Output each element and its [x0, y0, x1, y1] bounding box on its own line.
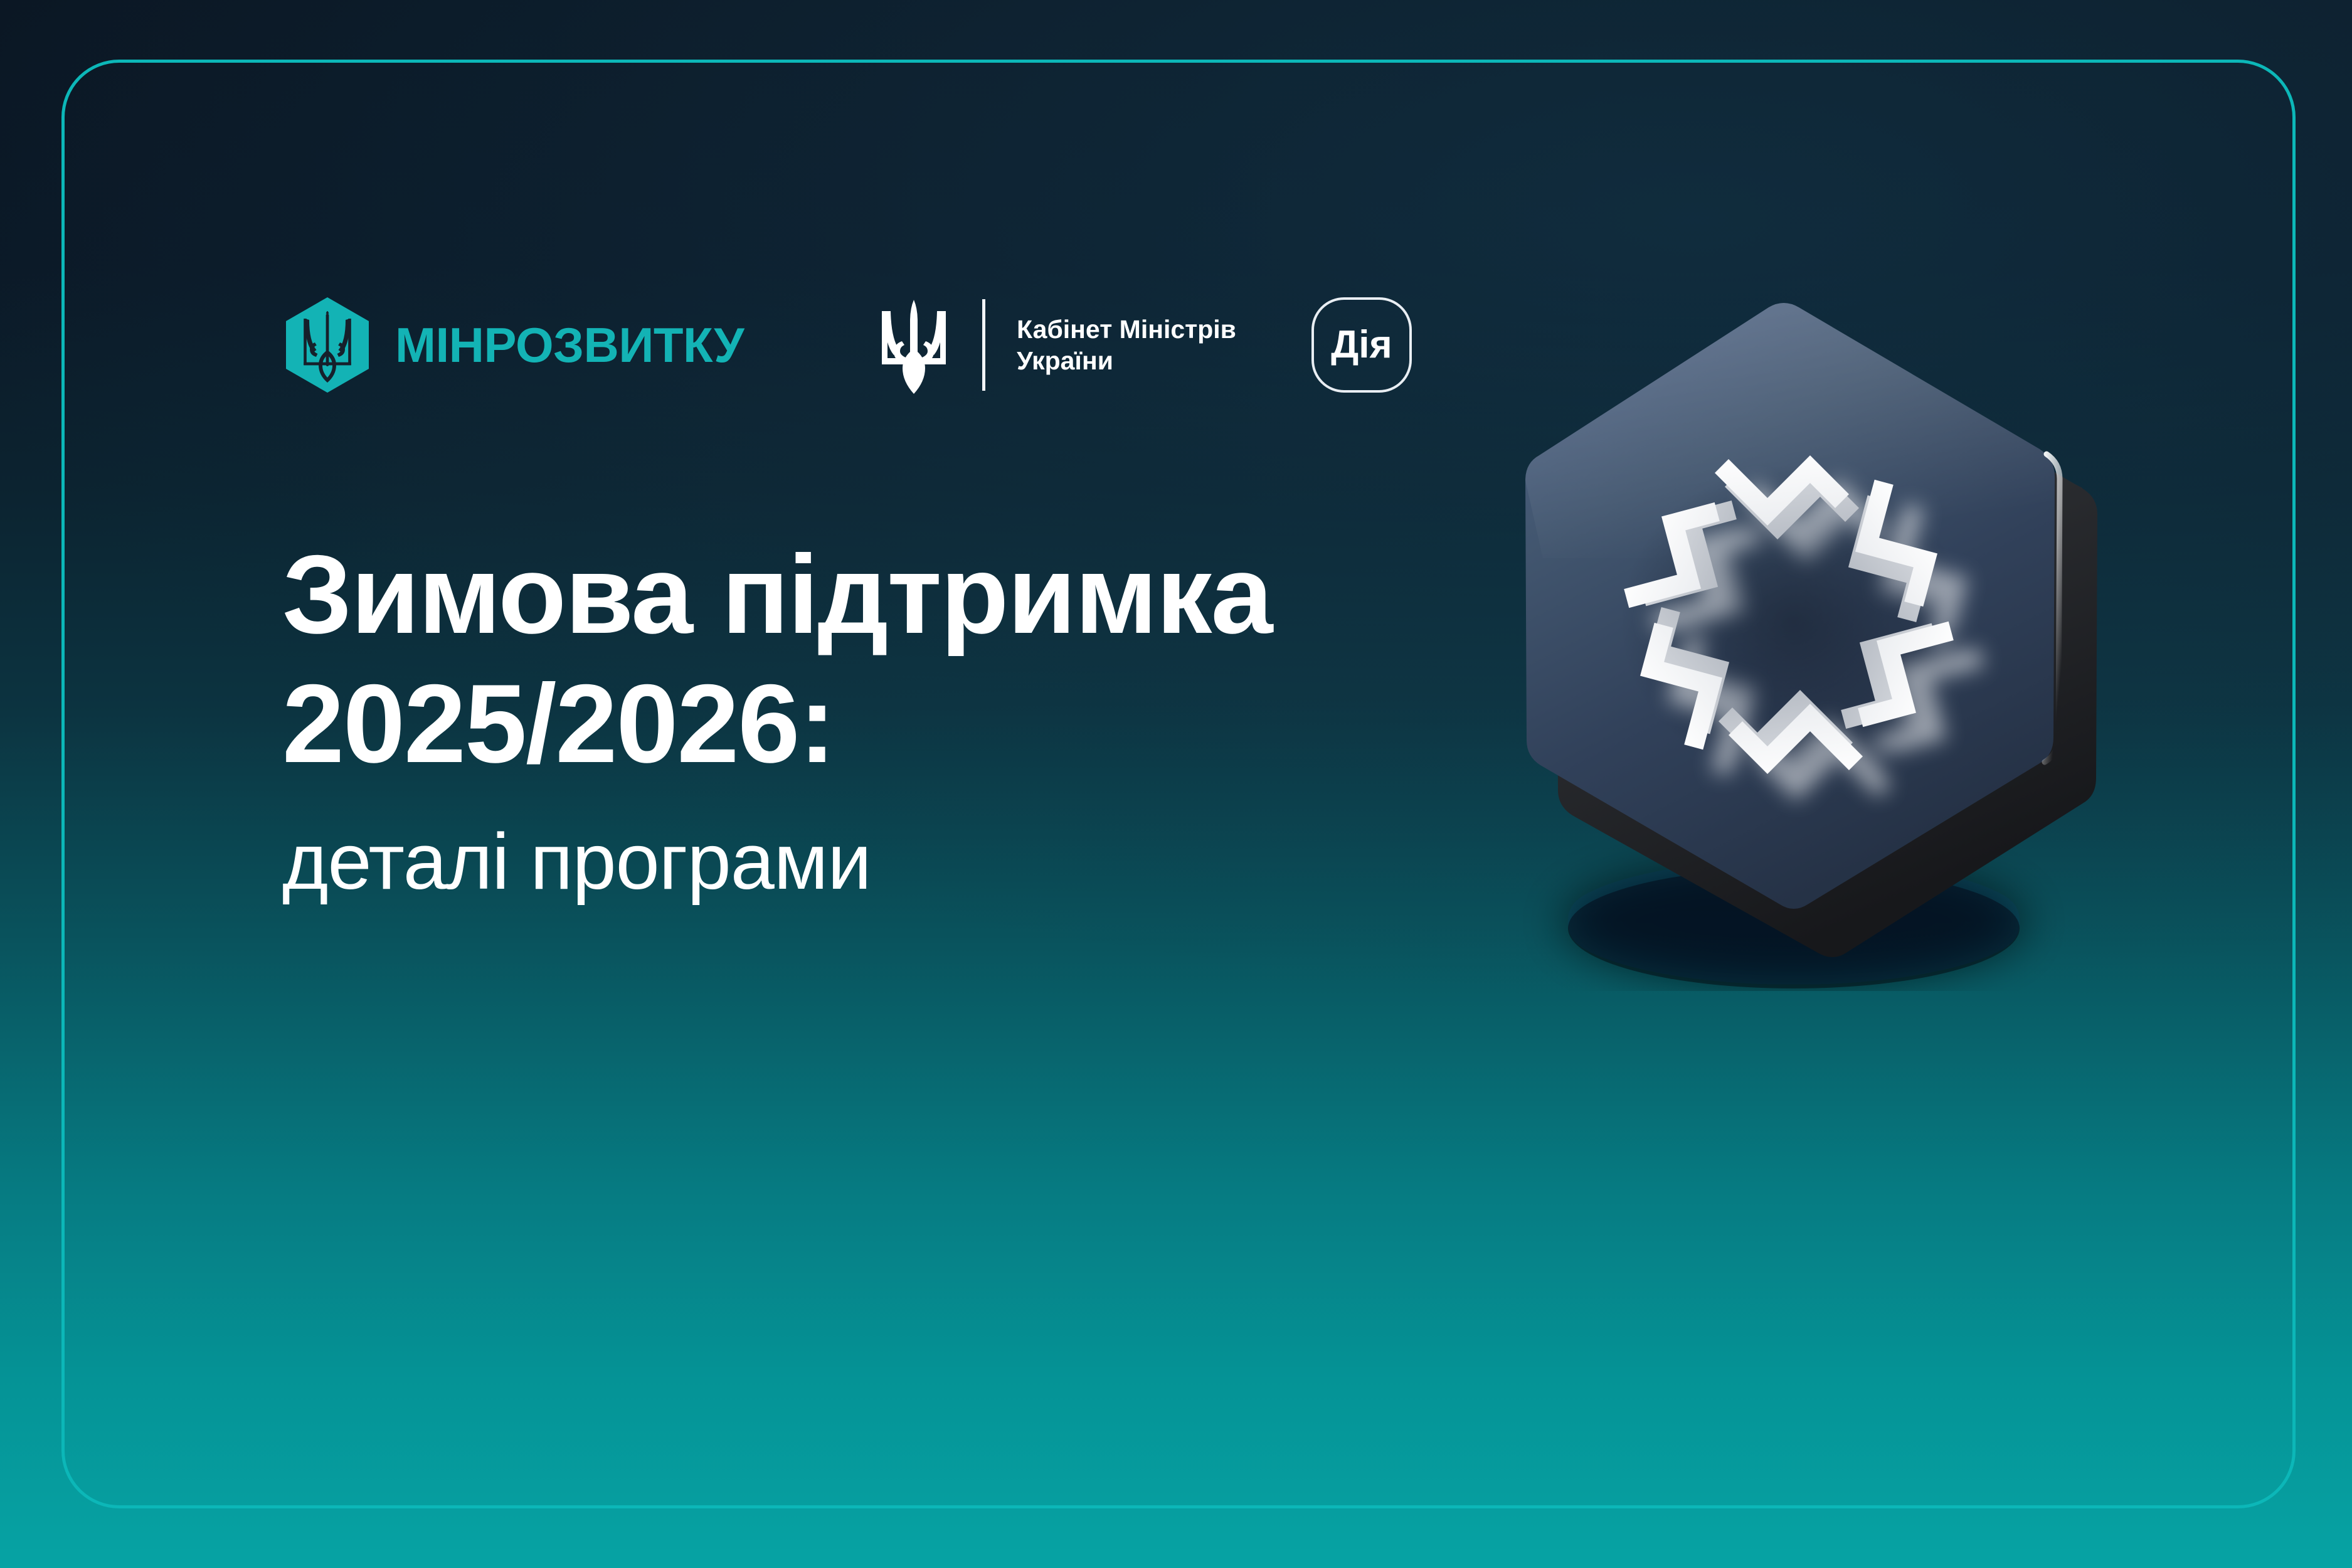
cabmin-line-2: України [1017, 346, 1113, 375]
cabmin-line-1: Кабінет Міністрів [1017, 315, 1236, 344]
headline-subtitle: деталі програми [282, 814, 1474, 909]
vertical-divider [982, 299, 985, 391]
headline-block: Зимова підтримка 2025/2026: деталі прогр… [282, 530, 1474, 909]
trident-icon [877, 296, 951, 394]
trident-hexagon-icon [286, 297, 369, 393]
minrozvytku-wordmark: МІНРОЗВИТКУ [395, 320, 744, 369]
headline-line-2: 2025/2026: [282, 661, 835, 786]
diia-label: Дія [1331, 326, 1392, 364]
page-title: Зимова підтримка 2025/2026: [282, 530, 1474, 789]
logo-bar: МІНРОЗВИТКУ [286, 285, 1412, 405]
winter-support-banner: МІНРОЗВИТКУ [0, 0, 2352, 1568]
cabinet-of-ministers-label: Кабінет Міністрів України [1017, 314, 1236, 376]
diia-badge[interactable]: Дія [1311, 297, 1412, 393]
minrozvytku-logo[interactable]: МІНРОЗВИТКУ [286, 297, 744, 393]
cabinet-of-ministers-logo[interactable]: Кабінет Міністрів України [877, 296, 1236, 394]
3d-snowflake-hexagon-badge [1417, 263, 2158, 991]
headline-line-1: Зимова підтримка [282, 532, 1272, 657]
